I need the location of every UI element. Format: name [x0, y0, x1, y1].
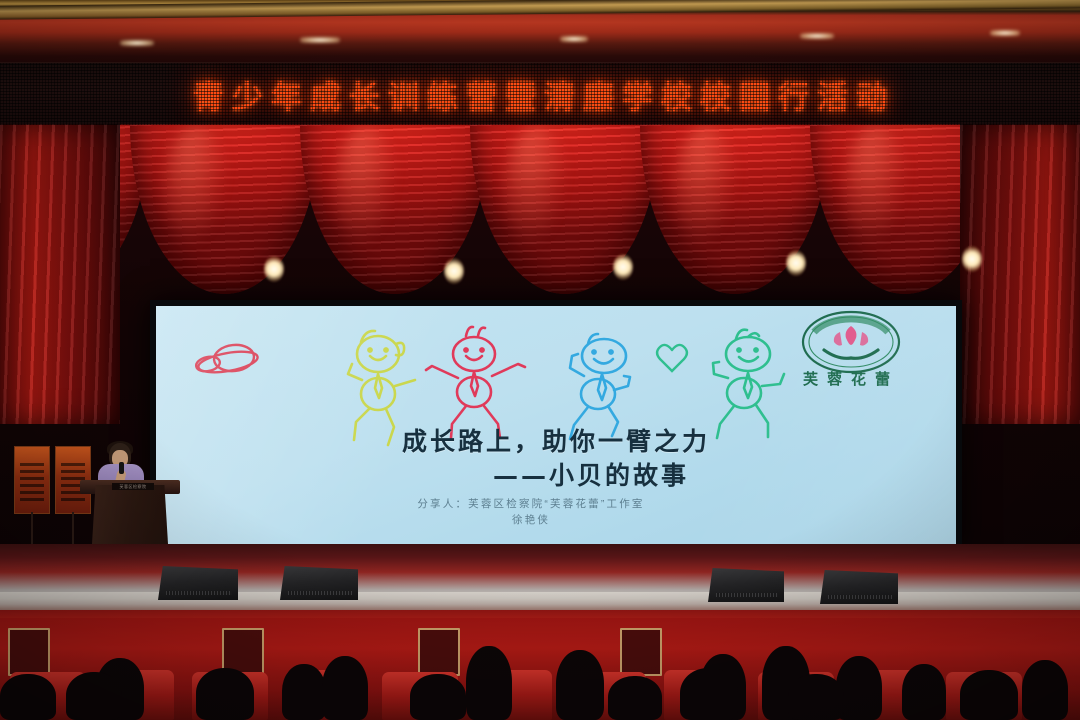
stage-spotlight	[264, 256, 284, 282]
stage-spotlight	[613, 254, 633, 280]
audience-head-front	[680, 668, 738, 720]
ceiling-light	[120, 40, 154, 46]
podium-nameplate: 芙蓉区检察院	[112, 483, 154, 490]
ceiling-light	[300, 37, 340, 43]
gold-fringe-right	[986, 240, 998, 370]
wall-panel	[8, 628, 50, 676]
curtain-swag	[130, 124, 320, 294]
stage-monitor	[820, 570, 898, 604]
stage-spotlight	[786, 250, 806, 276]
red-rings-doodle	[195, 343, 259, 376]
audience-head	[322, 656, 368, 720]
auditorium-stage-photo: 青少年成长训练营暨清廉学校校园行活动	[0, 0, 1080, 720]
slide-subtitle: 分享人：芙蓉区检察院“芙蓉花蕾”工作室 徐艳侠	[156, 496, 956, 529]
gold-fringe-left	[82, 240, 94, 370]
audience-head-front	[0, 674, 56, 720]
audience-head-front	[608, 676, 662, 720]
stage-monitor	[158, 566, 238, 600]
slide-subtitle-line2: 徐艳侠	[156, 512, 906, 528]
audience-head-front	[960, 670, 1018, 720]
slide-title-line2: ——小贝的故事	[156, 456, 956, 492]
curtain-valance	[0, 124, 1080, 304]
logo-wrap: 芙蓉花蕾	[756, 312, 946, 398]
stage-monitor	[280, 566, 358, 600]
audience-head-front	[196, 668, 254, 720]
projection-screen: 芙蓉花蕾 成长路上，助你一臂之力 ——小贝的故事 分享人：芙蓉区检察院“芙蓉花蕾…	[156, 306, 956, 544]
audience-head	[902, 664, 946, 720]
poster-board	[14, 446, 50, 514]
stage-spotlight	[962, 246, 982, 272]
heart-doodle-green	[657, 345, 687, 371]
stage-monitor	[708, 568, 784, 602]
audience-head	[556, 650, 604, 720]
wall-panel	[418, 628, 460, 676]
stage-spotlight	[444, 258, 464, 284]
led-banner: 青少年成长训练营暨清廉学校校园行活动	[0, 62, 1080, 126]
curtain-side-drape-right	[960, 124, 1080, 424]
logo-label: 芙蓉花蕾	[756, 368, 946, 389]
wall-panel	[620, 628, 662, 676]
led-banner-text: 青少年成长训练营暨清廉学校校园行活动	[185, 72, 895, 117]
microphone	[119, 462, 124, 474]
audience-head-front	[788, 674, 844, 720]
ceiling-trim	[0, 0, 1080, 70]
projection-screen-frame: 芙蓉花蕾 成长路上，助你一臂之力 ——小贝的故事 分享人：芙蓉区检察院“芙蓉花蕾…	[150, 300, 962, 550]
ceiling-light	[800, 33, 834, 39]
audience-head	[1022, 660, 1068, 720]
audience-head	[466, 646, 512, 720]
audience-head	[282, 664, 326, 720]
slide-title-line1: 成长路上，助你一臂之力	[156, 422, 956, 458]
audience-head-front	[410, 674, 466, 720]
slide-subtitle-line1: 分享人：芙蓉区检察院“芙蓉花蕾”工作室	[156, 496, 906, 512]
ceiling-light	[560, 36, 588, 42]
ceiling-light	[990, 30, 1020, 36]
audience-area	[0, 618, 1080, 720]
curtain-side-drape-left	[0, 124, 120, 424]
audience-head-front	[66, 672, 122, 720]
